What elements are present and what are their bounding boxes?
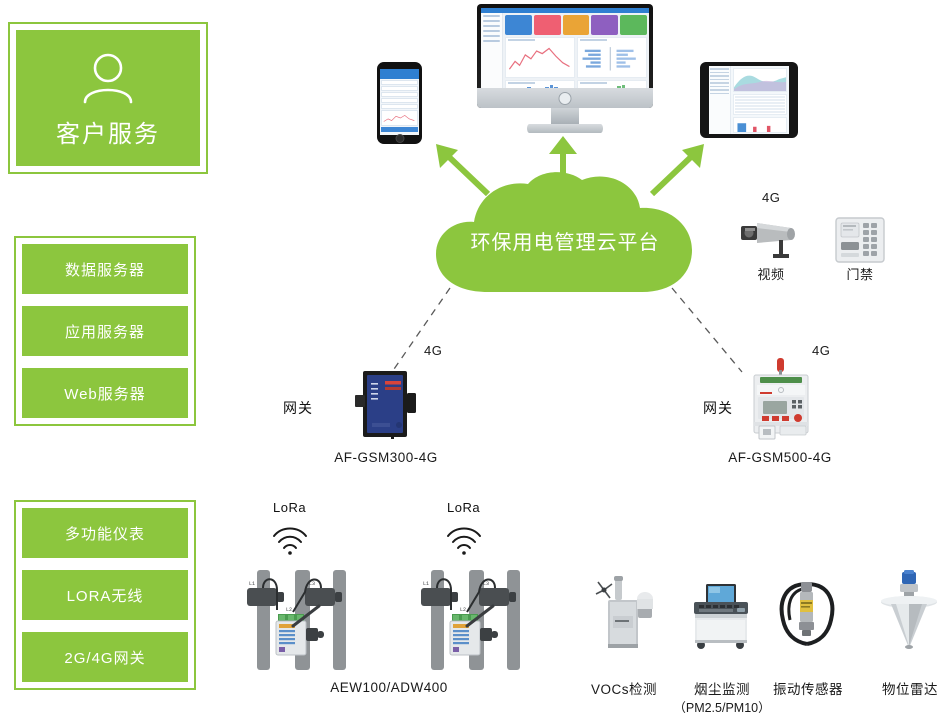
video-camera-icon[interactable] (735, 212, 807, 264)
vocs-detector-icon[interactable] (588, 572, 660, 650)
server-item-web[interactable]: Web服务器 (22, 368, 188, 418)
phone-app-header (380, 69, 419, 79)
line-chart-card (505, 37, 575, 78)
dashboard-kpi-row (505, 15, 647, 35)
tablet-main (731, 66, 789, 134)
person-icon (77, 48, 139, 110)
arrow-to-tablet-icon (648, 144, 708, 196)
tablet-area-chart (733, 68, 787, 92)
monitor-base (527, 124, 603, 133)
monitor-screen (481, 8, 649, 100)
tablet[interactable] (700, 62, 798, 138)
camera-4g-tag: 4G (762, 190, 780, 205)
field-item-2g4g-gateway[interactable]: 2G/4G网关 (22, 632, 188, 682)
svg-text:L2: L2 (286, 607, 292, 613)
gateway-left-4g-tag: 4G (424, 343, 442, 358)
svg-text:L2: L2 (460, 607, 466, 613)
diagram-canvas: 客户服务 数据服务器 应用服务器 Web服务器 多功能仪表 LORA无线 2G/… (0, 0, 944, 722)
desktop-monitor[interactable] (477, 4, 653, 136)
panel-servers: 数据服务器 应用服务器 Web服务器 (14, 236, 196, 426)
kpi-card-green (620, 15, 647, 35)
dust-monitor-sublabel: （PM2.5/PM10） (670, 697, 774, 716)
access-control-label: 门禁 (831, 264, 889, 283)
customer-service-label: 客户服务 (56, 114, 160, 149)
tablet-bar-chart (733, 117, 787, 133)
vocs-detector-label: VOCs检测 (578, 678, 670, 698)
gateway-left-icon[interactable] (355, 369, 417, 441)
meter-assembly-left[interactable]: L1 L2 L3 (243, 570, 361, 670)
butterfly-chart-card (577, 37, 647, 78)
kpi-card-red (534, 15, 561, 35)
line-chart (506, 38, 574, 77)
level-radar-label: 物位雷达 (866, 678, 944, 698)
lora-wifi-icon-right (444, 522, 484, 556)
dashboard-main (503, 13, 649, 100)
gateway-right-model: AF-GSM500-4G (710, 450, 850, 465)
connector-cloud-to-gateway-right (672, 288, 742, 372)
lora-label-right: LoRa (447, 500, 480, 515)
field-item-lora-wireless[interactable]: LORA无线 (22, 570, 188, 620)
tablet-data-table (733, 94, 787, 115)
svg-text:L3: L3 (309, 581, 315, 587)
butterfly-chart (578, 38, 646, 77)
meter-assembly-right[interactable]: L1 L2 L3 (417, 570, 535, 670)
kpi-card-orange (563, 15, 590, 35)
video-camera-label: 视频 (735, 264, 807, 283)
monitor-neck (551, 108, 579, 124)
gateway-right-side-label: 网关 (703, 398, 733, 418)
monitor-power-button[interactable] (559, 92, 572, 105)
arrow-to-monitor-icon (548, 136, 578, 190)
access-control-keypad-icon[interactable] (834, 216, 886, 264)
level-radar-icon[interactable] (878, 570, 940, 650)
server-item-application[interactable]: 应用服务器 (22, 306, 188, 356)
field-item-multifunction-meter[interactable]: 多功能仪表 (22, 508, 188, 558)
arrow-to-phone-icon (432, 144, 492, 196)
svg-text:L3: L3 (483, 581, 489, 587)
vibration-sensor-icon[interactable] (775, 578, 839, 650)
gateway-right-icon[interactable] (748, 358, 814, 440)
kpi-card-blue (505, 15, 532, 35)
dust-monitor-label: 烟尘监测 (678, 678, 766, 698)
lora-label-left: LoRa (273, 500, 306, 515)
gateway-right-4g-tag: 4G (812, 343, 830, 358)
phone-home-button[interactable] (395, 134, 404, 143)
phone-screen (380, 69, 419, 135)
gateway-left-side-label: 网关 (283, 398, 313, 418)
meter-model-label: AEW100/ADW400 (319, 680, 459, 695)
lora-wifi-icon-left (270, 522, 310, 556)
dashboard-sidebar (481, 13, 503, 100)
panel-field-devices: 多功能仪表 LORA无线 2G/4G网关 (14, 500, 196, 690)
dust-monitor-icon[interactable] (686, 580, 756, 650)
server-item-data[interactable]: 数据服务器 (22, 244, 188, 294)
gateway-left-model: AF-GSM300-4G (316, 450, 456, 465)
panel-customer-service: 客户服务 (8, 22, 208, 174)
kpi-card-purple (591, 15, 618, 35)
connector-cloud-to-gateway-left (392, 288, 450, 372)
smartphone[interactable] (377, 62, 422, 144)
vibration-sensor-label: 振动传感器 (762, 678, 854, 698)
tablet-sidebar (709, 66, 731, 134)
svg-text:L1: L1 (423, 581, 429, 587)
tablet-screen (709, 66, 789, 134)
phone-mini-chart (381, 110, 418, 126)
svg-text:L1: L1 (249, 581, 255, 587)
customer-service-fill: 客户服务 (16, 30, 200, 166)
